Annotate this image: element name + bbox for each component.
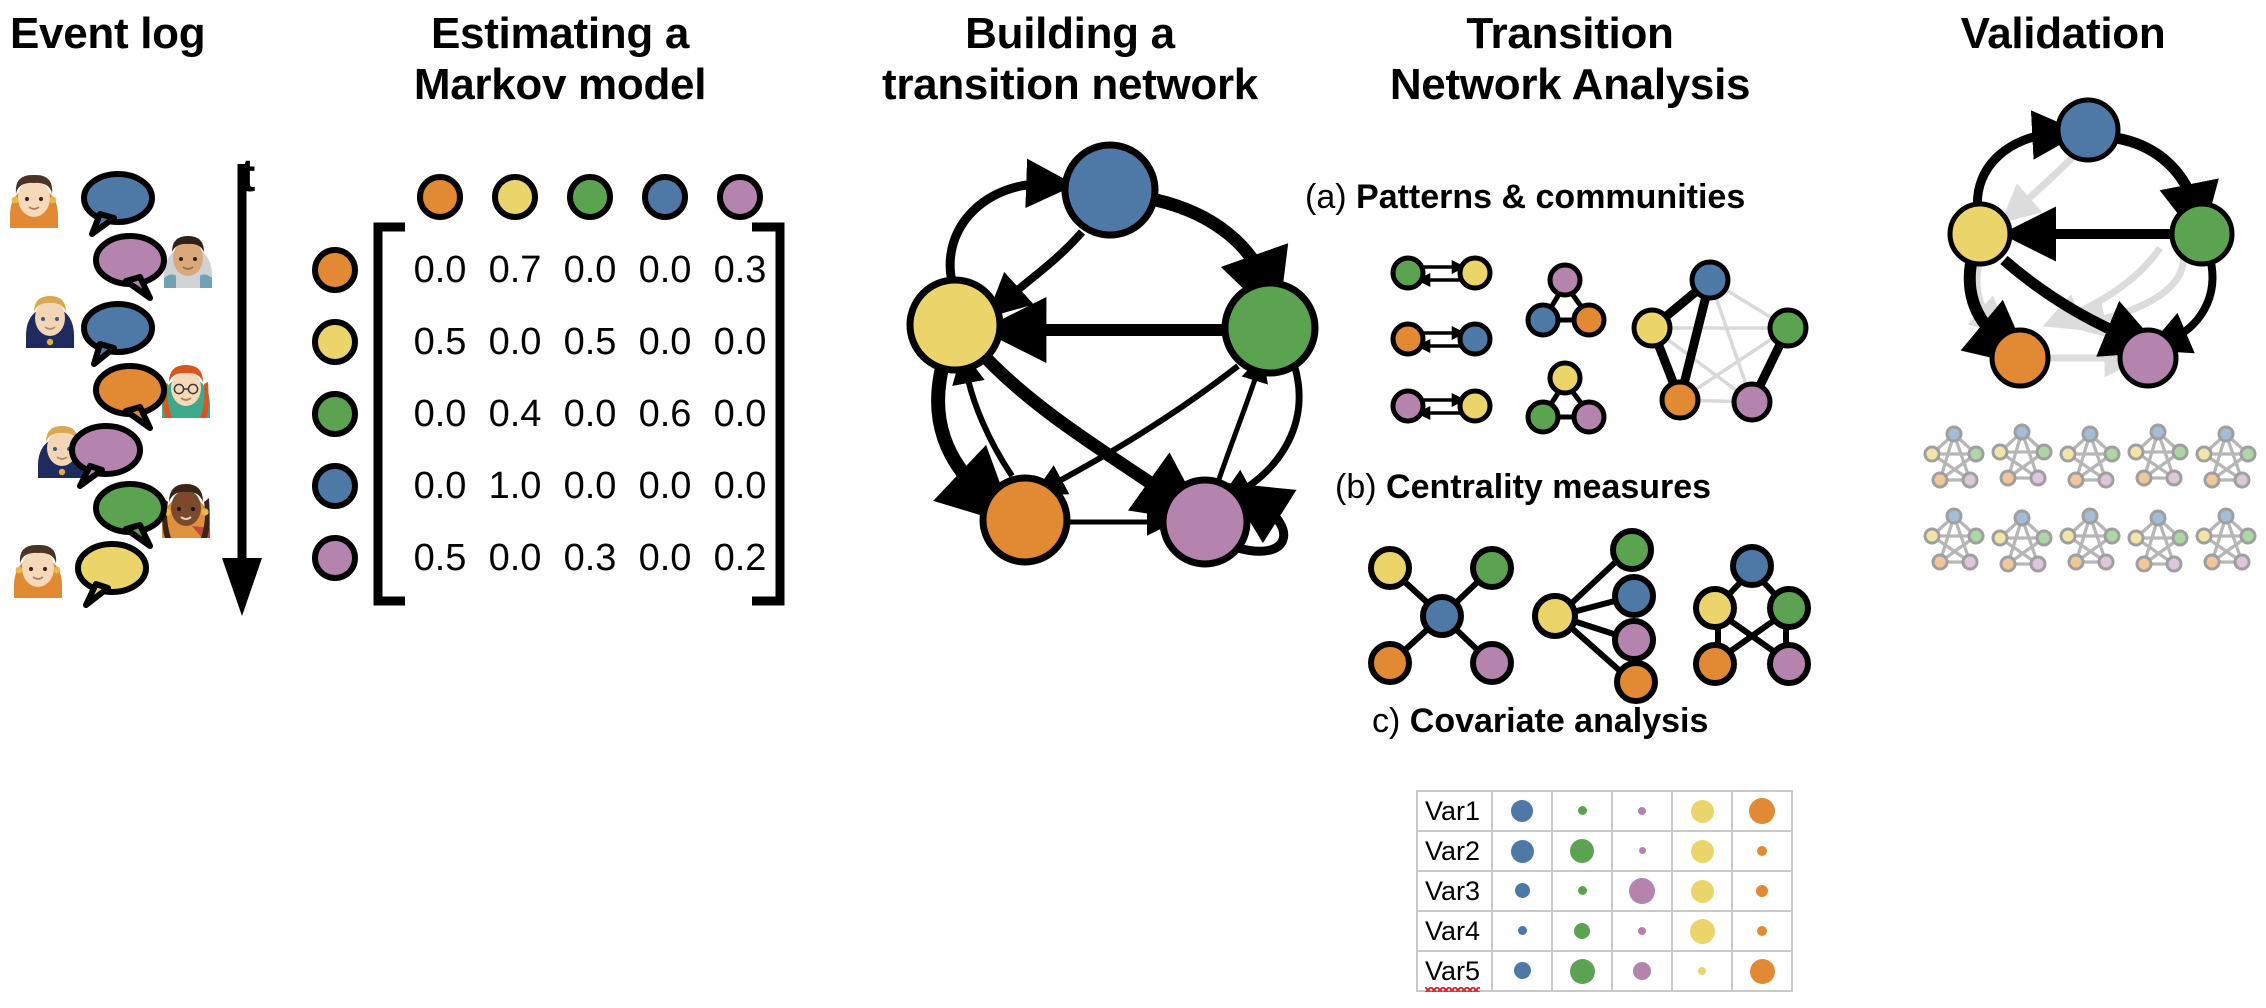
col-header-orange [420,177,460,217]
triad-purple-blue-orange [1528,265,1604,335]
validation-nodes [1950,100,2232,386]
hub-node-yellow [1535,596,1575,636]
bootstrap-grid-panel [1918,418,2266,588]
validation-network-graph [1930,100,2266,400]
speech-bubble-purple [96,236,164,298]
cell-var1-yellow [1672,791,1732,831]
bootstrap-row-1 [1925,425,2255,487]
patterns-panel [1380,240,1830,450]
row-header-green [315,394,355,434]
matrix-cell-2-4: 0.0 [700,393,780,436]
node-purple [1163,480,1247,564]
cell-var3-purple [1612,871,1672,911]
cell-var1-orange [1732,791,1792,831]
speech-bubble-green [96,484,164,546]
event-log-panel [0,150,270,630]
cell-var1-purple [1612,791,1672,831]
centrality-lattice [1696,547,1808,683]
node-blue [1065,145,1155,235]
cell-var2-yellow [1672,831,1732,871]
event-row-3 [26,296,152,364]
transition-network-panel [860,130,1360,620]
event-row-7 [14,544,146,605]
cell-var1-blue [1492,791,1552,831]
matrix-cell-3-0: 0.0 [400,465,480,508]
row-header-purple [315,538,355,578]
col-header-blue [645,177,685,217]
row-header-orange [315,250,355,290]
patterns-graphic [1380,240,1830,450]
cell-var2-green [1552,831,1612,871]
matrix-cell-4-4: 0.2 [700,537,780,580]
matrix-cell-1-2: 0.5 [550,321,630,364]
time-arrow [222,164,262,616]
event-log-graphic [0,150,270,630]
edge-green-purple [1236,364,1299,494]
covariate-analysis-table: Var1 Var2 Var3 Var4 [1416,790,1793,992]
column-title-markov: Estimating a Markov model [350,8,770,110]
matrix-row-headers [315,250,355,578]
table-row: Var3 [1417,871,1792,911]
row-label-var5: Var5 [1417,951,1492,991]
matrix-cell-0-0: 0.0 [400,249,480,292]
row-label-var2: Var2 [1417,831,1492,871]
edge-blue-green [1156,200,1264,282]
section-label-c: c) Covariate analysis [1372,702,1708,741]
row-header-yellow [315,322,355,362]
cell-var2-purple [1612,831,1672,871]
dyad-purple-yellow [1393,391,1490,421]
table-row: Var4 [1417,911,1792,951]
col-header-green [570,177,610,217]
cell-var3-yellow [1672,871,1732,911]
matrix-cell-2-2: 0.0 [550,393,630,436]
cell-var5-blue [1492,951,1552,991]
cell-var4-purple [1612,911,1672,951]
row-label-var1: Var1 [1417,791,1492,831]
centrality-panel [1340,530,1830,700]
column-title-tna: Transition Network Analysis [1330,8,1810,110]
val-node-orange [1992,330,2048,386]
event-row-2 [96,236,212,298]
matrix-cell-2-1: 0.4 [475,393,555,436]
matrix-cell-3-3: 0.0 [625,465,705,508]
cell-var4-green [1552,911,1612,951]
event-row-5 [38,426,140,486]
col-header-purple [720,177,760,217]
table-row: Var2 [1417,831,1792,871]
validation-network-panel [1930,100,2266,400]
column-title-validation: Validation [1860,8,2266,59]
event-log-title-text: Event log [10,9,205,58]
matrix-cell-4-0: 0.5 [400,537,480,580]
column-title-building: Building a transition network [840,8,1300,110]
table-row: Var1 [1417,791,1792,831]
cell-var2-blue [1492,831,1552,871]
section-c-tag: c) [1372,702,1400,740]
matrix-cell-0-4: 0.3 [700,249,780,292]
val-node-purple [2120,330,2176,386]
speech-bubble-purple-2 [72,426,140,486]
section-c-label: Covariate analysis [1410,702,1709,740]
event-row-1 [10,174,152,234]
edge-yellow-orange [938,368,982,494]
markov-title-line1: Estimating a [350,8,770,59]
speech-bubble-orange [96,366,164,428]
time-axis-label: t [240,148,255,202]
transition-network-graph [860,130,1360,620]
edge-blue-yellow [1006,232,1082,300]
speech-bubble-blue-2 [84,304,152,364]
cell-var5-purple [1612,951,1672,991]
edge-green-orange [1050,366,1238,486]
centrality-star [1371,549,1511,682]
cell-var3-orange [1732,871,1792,911]
centrality-fan [1535,531,1655,701]
dyad-orange-blue [1393,324,1490,354]
node-orange [983,478,1067,562]
cell-var4-blue [1492,911,1552,951]
cell-var3-blue [1492,871,1552,911]
cell-var3-green [1552,871,1612,911]
matrix-cell-3-2: 0.0 [550,465,630,508]
cell-var1-green [1552,791,1612,831]
matrix-cell-1-3: 0.0 [625,321,705,364]
val-node-blue [2058,100,2118,160]
building-title-line2: transition network [840,59,1300,110]
validation-faded-edges [1977,152,2183,358]
col-header-yellow [495,177,535,217]
markov-title-line2: Markov model [350,59,770,110]
matrix-cell-4-2: 0.3 [550,537,630,580]
triad-yellow-green-purple [1528,363,1604,432]
tna-title-line2: Network Analysis [1330,59,1810,110]
cell-var5-green [1552,951,1612,991]
community-network [1634,262,1806,420]
val-node-yellow [1950,204,2010,264]
misspelled-label: Var5 [1425,956,1480,987]
event-row-6 [96,484,210,546]
edge-orange-yellow [966,370,1012,476]
bootstrap-grid-graphic [1918,418,2266,588]
matrix-cell-0-2: 0.0 [550,249,630,292]
matrix-cell-4-3: 0.0 [625,537,705,580]
matrix-cell-2-0: 0.0 [400,393,480,436]
matrix-cell-1-1: 0.0 [475,321,555,364]
matrix-column-headers [420,177,760,217]
matrix-cell-0-3: 0.0 [625,249,705,292]
row-label-var4: Var4 [1417,911,1492,951]
matrix-cell-1-4: 0.0 [700,321,780,364]
cell-var4-orange [1732,911,1792,951]
validation-title-text: Validation [1961,9,2166,58]
bootstrap-row-2 [1925,509,2255,571]
speech-bubble-blue [84,174,152,234]
building-title-line1: Building a [840,8,1300,59]
cell-var5-yellow [1672,951,1732,991]
dyad-green-yellow [1393,258,1490,288]
matrix-cell-0-1: 0.7 [475,249,555,292]
centrality-graphic [1340,530,1830,700]
row-header-blue [315,466,355,506]
speech-bubble-yellow [78,544,146,605]
row-label-var3: Var3 [1417,871,1492,911]
section-label-b: (b) Centrality measures [1335,468,1711,507]
edge-purple-green [1218,370,1258,482]
time-axis-label-text: t [240,149,255,201]
column-title-event-log: Event log [0,8,330,59]
node-yellow [910,280,1000,370]
matrix-cell-3-1: 1.0 [475,465,555,508]
matrix-cell-2-3: 0.6 [625,393,705,436]
section-b-tag: (b) [1335,468,1377,506]
edge-yellow-blue [950,184,1046,282]
cell-var5-orange [1732,951,1792,991]
cell-var2-orange [1732,831,1792,871]
section-a-tag: (a) [1305,178,1347,216]
node-green [1225,283,1315,373]
cell-var4-yellow [1672,911,1732,951]
matrix-cell-3-4: 0.0 [700,465,780,508]
table-row: Var5 [1417,951,1792,991]
section-a-label: Patterns & communities [1356,178,1745,216]
section-b-label: Centrality measures [1386,468,1711,506]
matrix-cell-1-0: 0.5 [400,321,480,364]
val-node-green [2172,204,2232,264]
tna-title-line1: Transition [1330,8,1810,59]
section-label-a: (a) Patterns & communities [1305,178,1745,217]
event-row-4 [96,365,210,428]
hub-node-blue [1423,597,1461,635]
matrix-cell-4-1: 0.0 [475,537,555,580]
